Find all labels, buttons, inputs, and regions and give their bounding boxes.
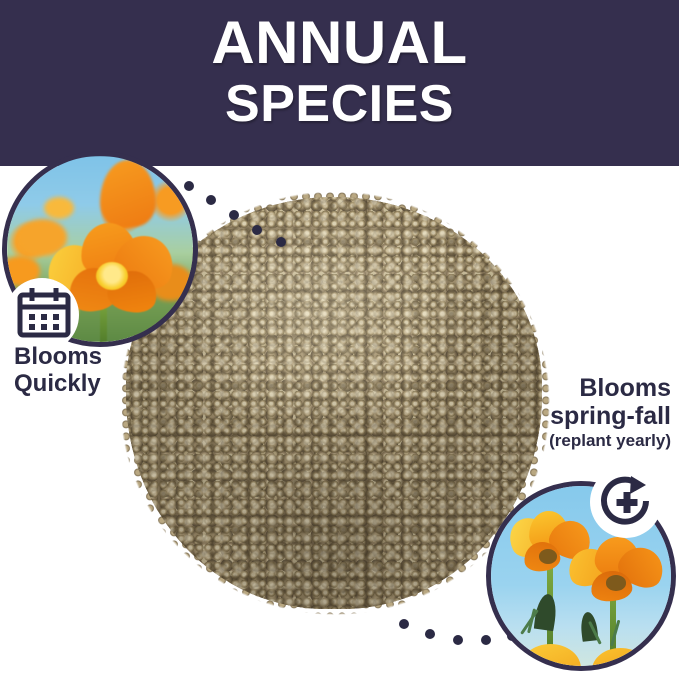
flower-center: [539, 549, 557, 564]
calendar-icon: [16, 285, 72, 341]
page-subtitle: SPECIES: [0, 77, 679, 132]
replant-refresh-plus-icon: [598, 472, 656, 530]
feature-label-line1: Blooms: [579, 374, 671, 402]
feature-label-line2: spring-fall: [550, 402, 671, 430]
infographic-canvas: ANNUAL SPECIES: [0, 0, 679, 675]
feature-label-note: (replant yearly): [411, 431, 671, 450]
connector-dot: [453, 635, 463, 645]
feature-label-blooms-quickly: Blooms Quickly: [14, 344, 184, 398]
feature-label-line2: Quickly: [14, 370, 101, 397]
connector-dot: [399, 619, 409, 629]
connector-dot: [425, 629, 435, 639]
page-title: ANNUAL: [0, 14, 679, 73]
poppy-flower: [570, 540, 664, 605]
connector-dot: [481, 635, 491, 645]
background-poppy-bud: [100, 160, 156, 227]
petal: [592, 648, 650, 671]
petal: [520, 644, 581, 671]
flower-center: [96, 262, 128, 290]
feature-label-blooms-spring-fall: Blooms spring-fall (replant yearly): [411, 374, 671, 450]
header-title-block: ANNUAL SPECIES: [0, 14, 679, 131]
flower-center: [606, 575, 627, 591]
background-flower: [44, 197, 74, 219]
feature-label-line1: Blooms: [14, 343, 102, 370]
header-banner: ANNUAL SPECIES: [0, 0, 679, 166]
